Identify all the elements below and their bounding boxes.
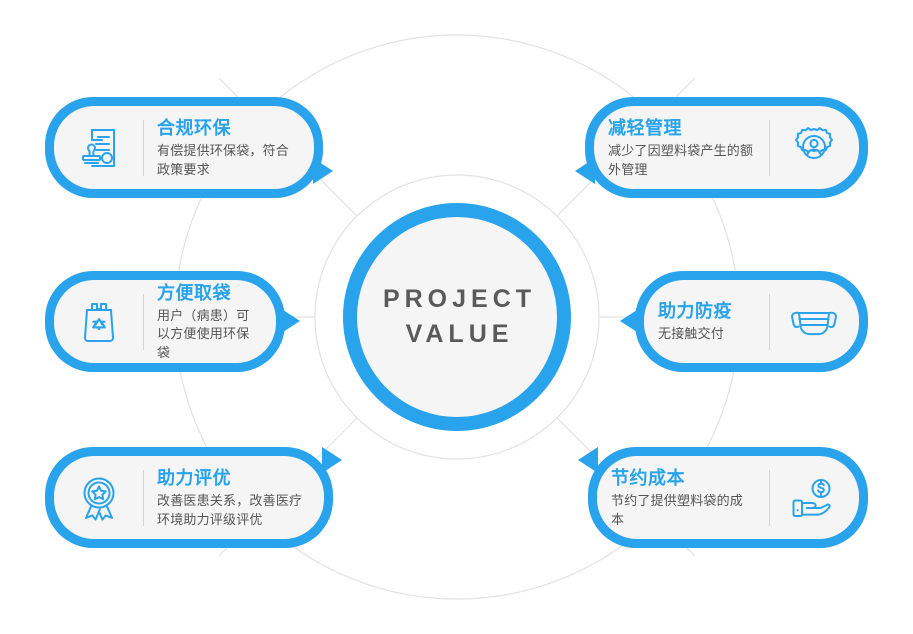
card-epidemic-text: 助力防疫 无接触交付 <box>658 299 756 344</box>
center-hub: PROJECT VALUE <box>343 203 571 431</box>
card-rating-inner: 助力评优 改善医患关系，改善医疗环境助力评级评优 <box>54 456 324 539</box>
card-convenience-text: 方便取袋 用户（病患）可以方便使用环保袋 <box>157 281 262 363</box>
card-description: 有偿提供环保袋，符合政策要求 <box>157 142 300 179</box>
card-epidemic-inner: 助力防疫 无接触交付 <box>644 280 859 363</box>
card-cost-text: 节约成本 节约了提供塑料袋的成本 <box>611 466 756 529</box>
gear-person-icon <box>783 119 845 177</box>
card-rating-text: 助力评优 改善医患关系，改善医疗环境助力评级评优 <box>157 466 310 529</box>
card-convenience-inner: 方便取袋 用户（病患）可以方便使用环保袋 <box>54 280 276 363</box>
card-divider <box>769 294 770 350</box>
card-title: 合规环保 <box>157 116 300 140</box>
card-title: 助力防疫 <box>658 299 756 323</box>
card-divider <box>143 120 144 176</box>
card-title: 助力评优 <box>157 466 310 490</box>
card-description: 用户（病患）可以方便使用环保袋 <box>157 307 262 362</box>
card-divider <box>769 120 770 176</box>
card-title: 减轻管理 <box>608 116 756 140</box>
card-cost[interactable]: 节约成本 节约了提供塑料袋的成本 <box>588 447 868 548</box>
card-rating[interactable]: 助力评优 改善医患关系，改善医疗环境助力评级评优 <box>45 447 333 548</box>
card-management[interactable]: 减轻管理 减少了因塑料袋产生的额外管理 <box>585 97 868 198</box>
infographic-canvas: PROJECT VALUE 合规环保 有 <box>0 0 913 634</box>
card-convenience[interactable]: 方便取袋 用户（病患）可以方便使用环保袋 <box>45 271 285 372</box>
center-title-line2: VALUE <box>401 317 514 353</box>
card-compliance-inner: 合规环保 有偿提供环保袋，符合政策要求 <box>54 106 314 189</box>
hand-money-icon <box>783 469 845 527</box>
card-description: 节约了提供塑料袋的成本 <box>611 492 756 529</box>
card-description: 无接触交付 <box>658 325 756 343</box>
card-divider <box>143 470 144 526</box>
card-title: 节约成本 <box>611 466 756 490</box>
card-divider <box>769 470 770 526</box>
document-stamp-icon <box>68 119 130 177</box>
card-compliance-text: 合规环保 有偿提供环保袋，符合政策要求 <box>157 116 300 179</box>
card-management-inner: 减轻管理 减少了因塑料袋产生的额外管理 <box>594 106 859 189</box>
card-management-text: 减轻管理 减少了因塑料袋产生的额外管理 <box>608 116 756 179</box>
center-title-line1: PROJECT <box>378 282 536 318</box>
award-medal-icon <box>68 469 130 527</box>
card-epidemic[interactable]: 助力防疫 无接触交付 <box>635 271 868 372</box>
card-divider <box>143 294 144 350</box>
recycle-bag-icon <box>68 293 130 351</box>
card-cost-inner: 节约成本 节约了提供塑料袋的成本 <box>597 456 859 539</box>
face-mask-icon <box>783 293 845 351</box>
card-description: 减少了因塑料袋产生的额外管理 <box>608 142 756 179</box>
card-description: 改善医患关系，改善医疗环境助力评级评优 <box>157 492 310 529</box>
card-compliance[interactable]: 合规环保 有偿提供环保袋，符合政策要求 <box>45 97 323 198</box>
card-title: 方便取袋 <box>157 281 262 305</box>
